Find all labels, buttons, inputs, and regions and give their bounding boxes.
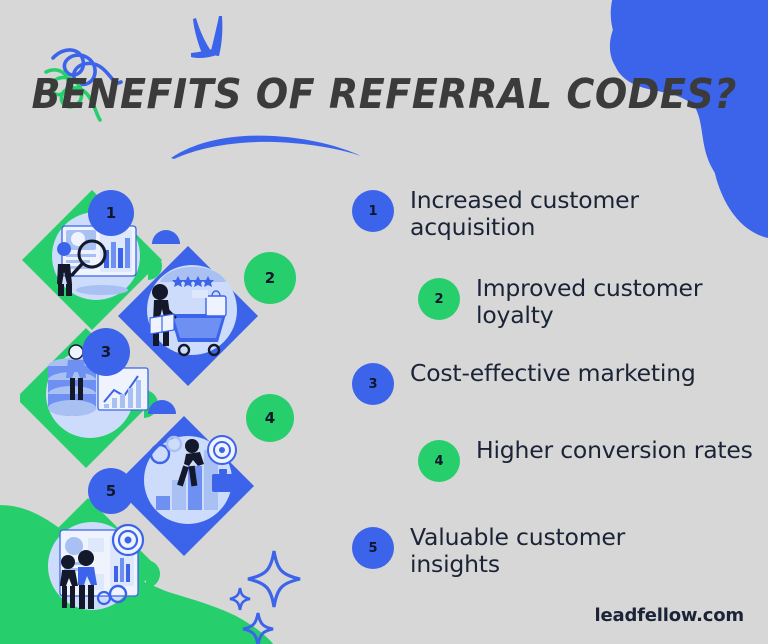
page-title-text: BENEFITS OF REFERRAL CODES? (31, 74, 736, 115)
benefit-label-4: Higher conversion rates (476, 437, 753, 464)
illustration-column: 1 2 3 4 5 (20, 178, 340, 618)
benefit-number-1: 1 (352, 190, 394, 232)
benefit-item-5[interactable]: 5 Valuable customer insights (352, 527, 752, 579)
art-badge-4: 4 (246, 394, 294, 442)
benefit-number-3: 3 (352, 363, 394, 405)
title-underline-swoosh (168, 134, 364, 160)
benefit-number-4: 4 (418, 440, 460, 482)
puzzle-illustrations (20, 178, 340, 618)
art-badge-1: 1 (88, 190, 134, 236)
benefit-label-1: Increased customer acquisition (410, 187, 715, 242)
benefit-label-3: Cost-effective marketing (410, 360, 696, 387)
page-title: BENEFITS OF REFERRAL CODES? (0, 74, 768, 115)
infographic-canvas: BENEFITS OF REFERRAL CODES? (0, 0, 768, 644)
benefit-item-4[interactable]: 4 Higher conversion rates (418, 440, 768, 482)
benefit-label-2: Improved customer loyalty (476, 275, 768, 330)
tile-customer-insights (20, 498, 160, 618)
benefit-item-1[interactable]: 1 Increased customer acquisition (352, 190, 752, 242)
benefit-item-2[interactable]: 2 Improved customer loyalty (418, 278, 768, 330)
benefit-number-5: 5 (352, 527, 394, 569)
blue-burst-sparkle-mid (211, 16, 222, 56)
art-badge-3: 3 (82, 328, 130, 376)
blue-burst-sparkle (193, 18, 213, 57)
art-badge-5: 5 (88, 468, 134, 514)
benefit-number-2: 2 (418, 278, 460, 320)
benefit-label-5: Valuable customer insights (410, 524, 715, 579)
footer-website[interactable]: leadfellow.com (595, 605, 744, 626)
benefit-item-3[interactable]: 3 Cost-effective marketing (352, 363, 752, 405)
art-badge-2: 2 (244, 252, 296, 304)
blue-burst-sparkle-low (191, 47, 219, 58)
